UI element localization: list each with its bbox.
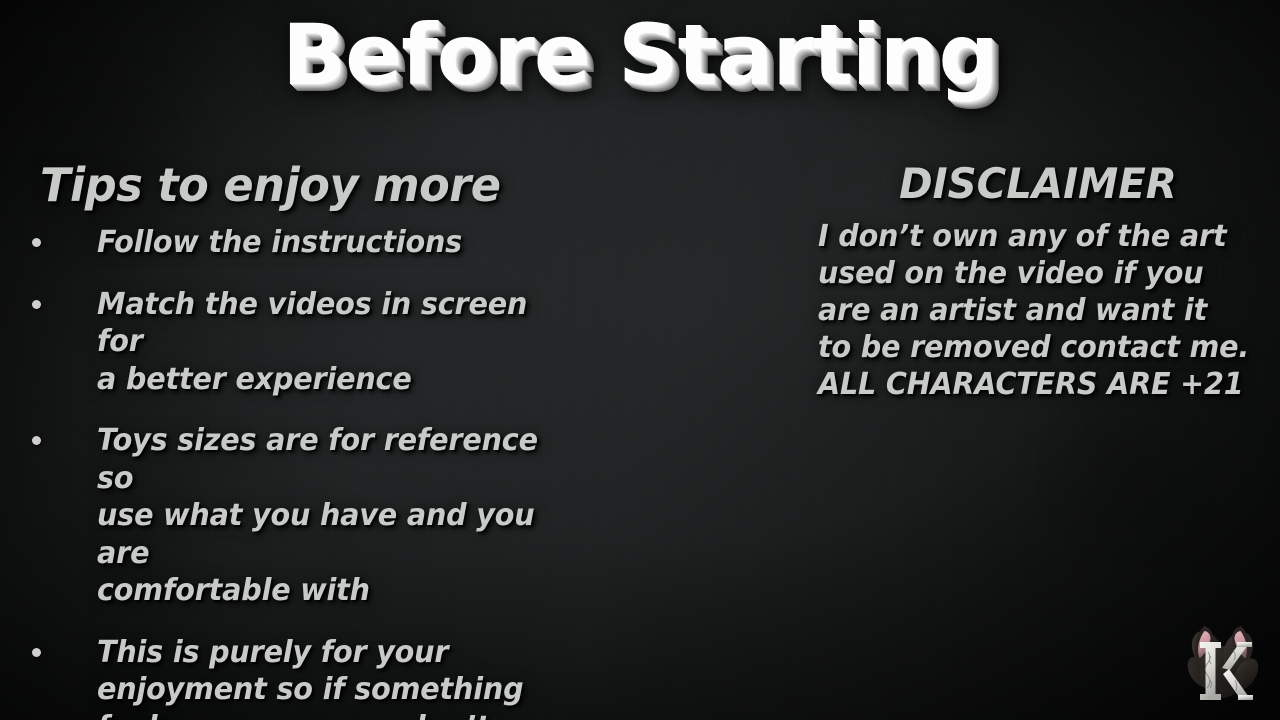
disclaimer-line: ALL CHARACTERS ARE +21 xyxy=(818,366,1238,403)
disclaimer-column: DISCLAIMER I don’t own any of the art us… xyxy=(818,156,1258,403)
bullet-line: comfortable with xyxy=(97,572,577,610)
disclaimer-line: are an artist and want it xyxy=(818,292,1238,329)
list-item: Follow the instructions xyxy=(40,224,600,262)
disclaimer-heading: DISCLAIMER xyxy=(827,156,1249,212)
bullet-dot-icon xyxy=(32,300,41,309)
bullet-line: Toys sizes are for reference so xyxy=(97,422,577,497)
bullet-line: enjoyment so if something xyxy=(97,671,577,709)
k-monogram-with-fox-ears-logo xyxy=(1180,620,1264,712)
bullet-dot-icon xyxy=(32,238,41,247)
slide-title: Before Starting xyxy=(0,6,1280,104)
disclaimer-body: I don’t own any of the art used on the v… xyxy=(818,218,1258,403)
disclaimer-line: I don’t own any of the art xyxy=(818,218,1238,255)
list-item: This is purely for your enjoyment so if … xyxy=(40,634,600,720)
bullet-line: Follow the instructions xyxy=(97,224,577,262)
bullet-dot-icon xyxy=(32,648,41,657)
bullet-dot-icon xyxy=(32,436,41,445)
tips-column: Tips to enjoy more Follow the instructio… xyxy=(40,156,600,720)
list-item: Toys sizes are for reference so use what… xyxy=(40,422,600,610)
tips-heading: Tips to enjoy more xyxy=(40,156,583,214)
bullet-line: Match the videos in screen for xyxy=(97,286,577,361)
bullet-line: This is purely for your xyxy=(97,634,577,672)
disclaimer-line: to be removed contact me. xyxy=(818,329,1238,366)
foliage-decoration xyxy=(1183,626,1264,698)
tips-list: Follow the instructions Match the videos… xyxy=(40,224,600,720)
disclaimer-line: used on the video if you xyxy=(818,255,1238,292)
bullet-line: use what you have and you are xyxy=(97,497,577,572)
bullet-line: a better experience xyxy=(97,361,577,399)
bullet-line: feels wrong or you don’t enjoy xyxy=(97,709,577,720)
slide-canvas: Before Starting Tips to enjoy more Follo… xyxy=(0,0,1280,720)
list-item: Match the videos in screen for a better … xyxy=(40,286,600,399)
